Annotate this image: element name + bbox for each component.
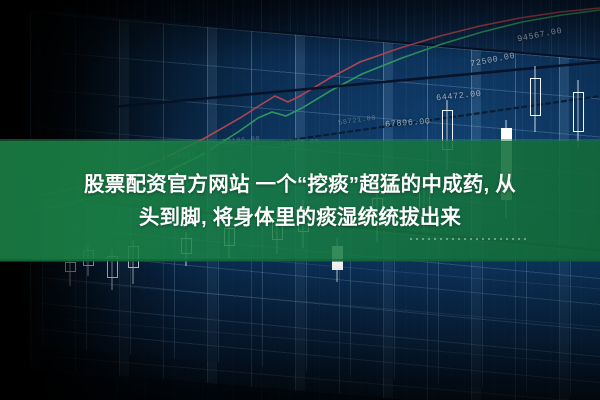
- headline-line-1: 股票配资官方网站 一个“挖痰”超猛的中成药, 从: [84, 171, 516, 198]
- price-label: 58721.00: [338, 114, 377, 127]
- price-label: 94567.00: [516, 26, 563, 45]
- price-label: 72500.00: [469, 51, 516, 70]
- price-label: 64472.00: [436, 89, 482, 104]
- price-label: 67896.00: [385, 116, 431, 129]
- headline-dotted-leader: [410, 238, 528, 240]
- headline-line-2: 头到脚, 将身体里的痰湿统统拔出来: [139, 204, 461, 231]
- headline-block: 股票配资官方网站 一个“挖痰”超猛的中成药, 从 头到脚, 将身体里的痰湿统统拔…: [0, 141, 600, 261]
- stock-banner-image: 94567.0072500.0064472.0067896.0058721.00…: [0, 0, 600, 400]
